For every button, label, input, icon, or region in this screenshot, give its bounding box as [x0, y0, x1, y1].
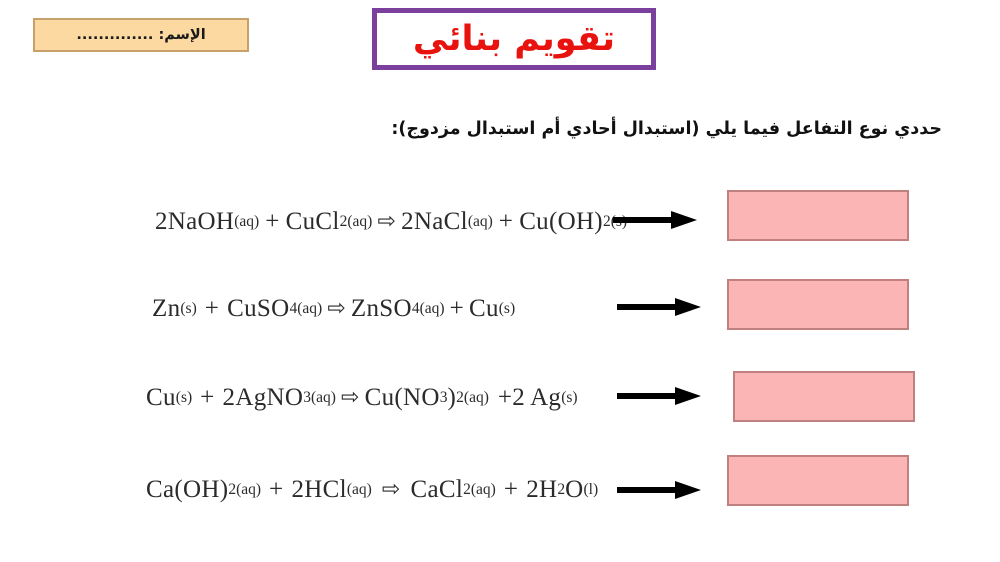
eq4-reactant-b: 2HCl: [291, 476, 346, 504]
eq2-yields-arrow-icon: ⇨: [322, 296, 351, 321]
chemical-equation-3: Cu(s) + 2AgNO3(aq) ⇨ Cu(NO3)2(aq) +2 Ag(…: [146, 366, 578, 430]
eq1-yields-arrow-icon: ⇨: [372, 209, 401, 234]
eq2-reactant-b-state: (aq): [297, 300, 322, 318]
pointer-arrow-icon-3: [617, 386, 701, 406]
eq1-product-c-state: (aq): [468, 213, 493, 231]
eq4-product-c: CaCl: [411, 476, 464, 504]
page-title: تقويم بنائي: [413, 22, 615, 57]
eq4-reactant-a-count: 2: [228, 481, 236, 499]
eq2-product-d: Cu: [469, 295, 499, 323]
chemical-equation-1: 2NaOH(aq) + CuCl2(aq) ⇨ 2NaCl(aq) + Cu(O…: [155, 190, 627, 254]
eq3-product-c-close: ): [448, 384, 457, 412]
eq3-product-d-state: (s): [561, 389, 577, 407]
question-row-1: 2NaOH(aq) + CuCl2(aq) ⇨ 2NaCl(aq) + Cu(O…: [0, 190, 1000, 254]
eq4-yields-arrow-icon: ⇨: [372, 477, 411, 502]
worksheet-page: الإسم: .............. تقويم بنائي حددي ن…: [0, 0, 1000, 562]
eq3-product-c-count: 3: [440, 389, 448, 407]
pointer-arrow-icon-2: [617, 297, 701, 317]
eq4-product-c-count: 2: [463, 481, 471, 499]
instruction-text: حددي نوع التفاعل فيما يلي (استبدال أحادي…: [391, 119, 942, 139]
pointer-arrow-icon-1: [613, 210, 697, 230]
pointer-arrow-icon-4: [617, 480, 701, 500]
eq4-plus-1: +: [261, 476, 291, 504]
eq3-reactant-b-count: 3: [303, 389, 311, 407]
eq4-product-d-state: (l): [583, 481, 598, 499]
question-row-3: Cu(s) + 2AgNO3(aq) ⇨ Cu(NO3)2(aq) +2 Ag(…: [0, 366, 1000, 430]
eq4-reactant-a: Ca(OH): [146, 476, 228, 504]
eq3-product-c: Cu(NO: [365, 384, 440, 412]
student-name-label: الإسم: ..............: [76, 27, 205, 43]
eq1-reactant-b-count: 2: [340, 213, 348, 231]
eq2-plus-1: +: [197, 295, 227, 323]
eq3-reactant-b-state: (aq): [311, 389, 336, 407]
eq2-product-d-state: (s): [499, 300, 515, 318]
eq3-plus-1: +: [192, 384, 222, 412]
eq3-reactant-a-state: (s): [176, 389, 192, 407]
eq1-reactant-b-state: (aq): [347, 213, 372, 231]
eq3-product-c-state: (aq): [464, 389, 489, 407]
chemical-equation-2: Zn(s) + CuSO4(aq) ⇨ ZnSO4(aq) + Cu(s): [152, 277, 515, 341]
eq1-reactant-b: CuCl: [286, 208, 340, 236]
eq1-product-c: 2NaCl: [401, 208, 468, 236]
eq3-reactant-a: Cu: [146, 384, 176, 412]
title-banner: تقويم بنائي: [372, 8, 656, 70]
eq1-product-d: Cu(OH): [519, 208, 603, 236]
eq2-reactant-a: Zn: [152, 295, 180, 323]
eq3-plus-2: +2: [489, 384, 530, 412]
eq4-product-d-count: 2: [557, 481, 565, 499]
answer-box-3[interactable]: [733, 371, 915, 422]
eq1-reactant-a: 2NaOH: [155, 208, 234, 236]
eq2-reactant-a-state: (s): [180, 300, 196, 318]
eq1-product-d-count: 2: [603, 213, 611, 231]
answer-box-1[interactable]: [727, 190, 909, 241]
answer-box-2[interactable]: [727, 279, 909, 330]
eq1-reactant-a-state: (aq): [234, 213, 259, 231]
eq3-product-d: Ag: [530, 384, 561, 412]
eq4-plus-2: +: [496, 476, 526, 504]
eq2-reactant-b: CuSO: [227, 295, 289, 323]
chemical-equation-4: Ca(OH)2(aq) + 2HCl(aq) ⇨ CaCl2(aq) + 2H2…: [146, 458, 598, 522]
answer-box-4[interactable]: [727, 455, 909, 506]
eq4-product-c-state: (aq): [471, 481, 496, 499]
eq4-reactant-a-state: (aq): [236, 481, 261, 499]
eq1-plus-1: +: [259, 208, 285, 236]
eq1-plus-2: +: [493, 208, 519, 236]
question-row-4: Ca(OH)2(aq) + 2HCl(aq) ⇨ CaCl2(aq) + 2H2…: [0, 458, 1000, 522]
eq3-product-c-count2: 2: [456, 389, 464, 407]
question-row-2: Zn(s) + CuSO4(aq) ⇨ ZnSO4(aq) + Cu(s): [0, 277, 1000, 341]
eq2-product-c: ZnSO: [351, 295, 412, 323]
eq3-reactant-b: 2AgNO: [223, 384, 304, 412]
eq2-product-c-state: (aq): [420, 300, 445, 318]
eq2-product-c-count: 4: [412, 300, 420, 318]
eq2-plus-2: +: [445, 295, 469, 323]
eq2-reactant-b-count: 4: [289, 300, 297, 318]
student-name-field[interactable]: الإسم: ..............: [33, 18, 249, 52]
eq4-reactant-b-state: (aq): [347, 481, 372, 499]
eq3-yields-arrow-icon: ⇨: [336, 385, 365, 410]
eq4-product-d-tail: O: [565, 476, 583, 504]
eq4-product-d: 2H: [526, 476, 557, 504]
